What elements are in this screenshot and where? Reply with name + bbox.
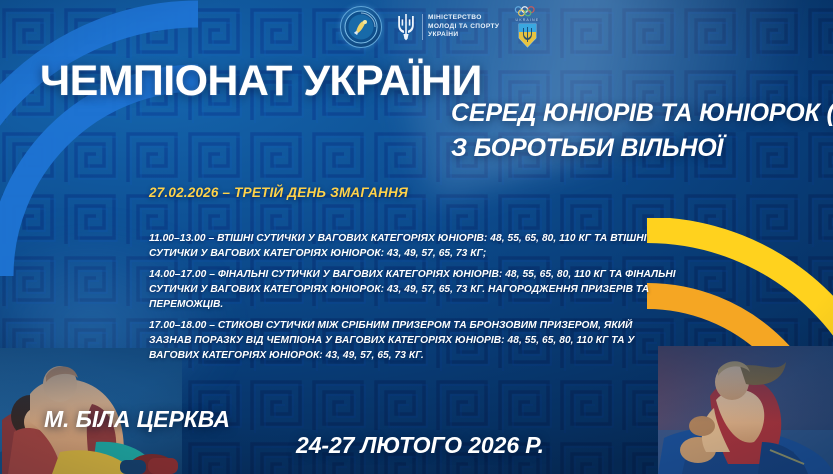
schedule-item: 11.00–13.00 – ВТІШНІ СУТИЧКИ У ВАГОВИХ К… <box>149 232 677 262</box>
logo-strip: МІНІСТЕРСТВО МОЛОДІ ТА СПОРТУ УКРАЇНИ UK… <box>340 6 541 48</box>
schedule-list: 11.00–13.00 – ВТІШНІ СУТИЧКИ У ВАГОВИХ К… <box>149 232 677 370</box>
ukraine-trident-icon <box>396 13 416 41</box>
national-olympic-committee-logo: UKRAINE <box>513 6 541 48</box>
poster-root: МІНІСТЕРСТВО МОЛОДІ ТА СПОРТУ УКРАЇНИ UK… <box>0 0 833 474</box>
ukraine-noc-shield-icon <box>518 23 537 48</box>
ministry-logo: МІНІСТЕРСТВО МОЛОДІ ТА СПОРТУ УКРАЇНИ <box>396 13 499 41</box>
olympic-rings-icon <box>513 6 541 17</box>
venue-city: М. БІЛА ЦЕРКВА <box>44 406 230 433</box>
schedule-item: 14.00–17.00 – ФІНАЛЬНІ СУТИЧКИ У ВАГОВИХ… <box>149 268 677 313</box>
schedule-item: 17.00–18.00 – СТИКОВІ СУТИЧКИ МІЖ СРІБНИ… <box>149 319 677 364</box>
event-dates: 24-27 ЛЮТОГО 2026 Р. <box>296 432 544 459</box>
poster-main-title: ЧЕМПІОНАТ УКРАЇНИ <box>40 57 482 106</box>
competition-day-heading: 27.02.2026 – ТРЕТІЙ ДЕНЬ ЗМАГАННЯ <box>149 185 408 200</box>
federation-emblem-icon <box>340 6 382 48</box>
ministry-label: МІНІСТЕРСТВО МОЛОДІ ТА СПОРТУ УКРАЇНИ <box>422 14 499 40</box>
poster-subtitle-discipline: З БОРОТЬБИ ВІЛЬНОЇ <box>451 134 723 163</box>
poster-subtitle-category: СЕРЕД ЮНІОРІВ ТА ЮНІОРОК (U17) <box>451 99 833 128</box>
noc-label: UKRAINE <box>516 18 540 22</box>
female-wrestlers-photo <box>658 346 833 474</box>
